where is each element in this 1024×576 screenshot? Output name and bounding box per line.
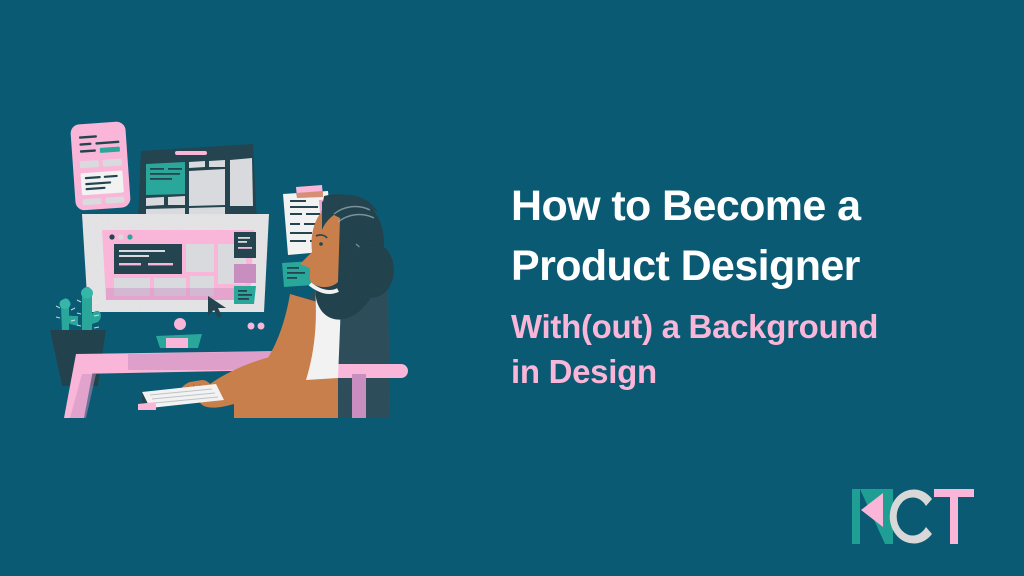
headline-line-2: Product Designer — [511, 236, 971, 296]
banner-canvas: How to Become a Product Designer With(ou… — [0, 0, 1024, 576]
headline-block: How to Become a Product Designer With(ou… — [511, 176, 971, 394]
nct-logo[interactable] — [852, 489, 974, 544]
headline-line-1: How to Become a — [511, 176, 971, 236]
smartphone-device — [70, 121, 131, 211]
subtitle-line-2: in Design — [511, 349, 971, 394]
logo-letter-t-icon — [934, 489, 974, 544]
subtitle-block: With(out) a Background in Design — [511, 304, 971, 394]
subtitle-line-1: With(out) a Background — [511, 304, 971, 349]
logo-letter-n-icon — [852, 489, 893, 544]
illustration-woman-at-desk — [38, 118, 468, 444]
logo-letter-c-icon — [890, 490, 932, 544]
tablet-device — [138, 144, 257, 223]
